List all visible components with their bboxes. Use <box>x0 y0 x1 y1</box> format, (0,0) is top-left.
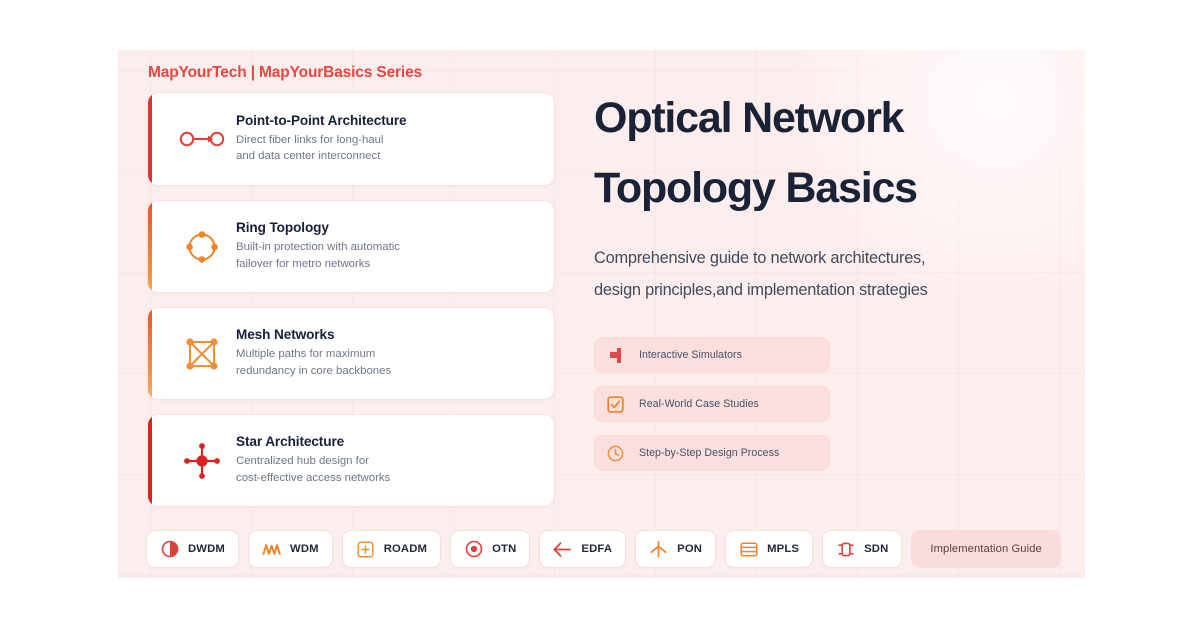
tag-label: ROADM <box>384 543 427 555</box>
point-to-point-icon <box>178 115 226 163</box>
ring-topology-icon <box>178 223 226 271</box>
otn-target-dot-icon <box>464 540 483 559</box>
tag-label: EDFA <box>581 543 612 555</box>
poster-canvas: MapYourTech | MapYourBasics Series <box>0 0 1200 628</box>
clock-icon <box>606 444 625 463</box>
card-description: Centralized hub design for cost-effectiv… <box>236 453 540 486</box>
tag-mpls[interactable]: MPLS <box>725 530 813 568</box>
mpls-stack-icon <box>739 540 758 559</box>
card-description: Direct fiber links for long-haul and dat… <box>236 132 540 165</box>
content-panel: MapYourTech | MapYourBasics Series <box>118 50 1085 578</box>
tag-label: WDM <box>290 543 319 555</box>
tag-pon[interactable]: PON <box>635 530 716 568</box>
card-text: Star Architecture Centralized hub design… <box>236 434 540 486</box>
card-accent-bar <box>148 93 152 185</box>
hero-column: Optical Network Topology Basics Comprehe… <box>594 84 1064 484</box>
wdm-wave-icon <box>262 540 281 559</box>
page-subtitle: Comprehensive guide to network architect… <box>594 243 1064 307</box>
tag-label: MPLS <box>767 543 799 555</box>
card-title: Ring Topology <box>236 220 540 237</box>
feature-list: Interactive Simulators Real-World Case S… <box>594 337 830 471</box>
tag-roadm[interactable]: ROADM <box>342 530 441 568</box>
topology-card-mesh[interactable]: Mesh Networks Multiple paths for maximum… <box>147 307 555 400</box>
roadm-square-plus-icon <box>356 540 375 559</box>
feature-label: Step-by-Step Design Process <box>639 447 779 459</box>
card-description: Built-in protection with automatic failo… <box>236 239 540 272</box>
card-text: Mesh Networks Multiple paths for maximum… <box>236 327 540 379</box>
tag-edfa[interactable]: EDFA <box>539 530 626 568</box>
implementation-guide-button[interactable]: Implementation Guide <box>911 530 1060 568</box>
checkbox-checked-icon <box>606 395 625 414</box>
topology-card-point-to-point[interactable]: Point-to-Point Architecture Direct fiber… <box>147 92 555 186</box>
feature-interactive-simulators[interactable]: Interactive Simulators <box>594 337 830 373</box>
card-title: Mesh Networks <box>236 327 540 344</box>
brand-series-label: MapYourTech | MapYourBasics Series <box>148 64 422 82</box>
dwdm-half-circle-icon <box>160 540 179 559</box>
tag-label: DWDM <box>188 543 225 555</box>
cta-label: Implementation Guide <box>930 543 1041 555</box>
flag-icon <box>606 346 625 365</box>
feature-label: Interactive Simulators <box>639 349 742 361</box>
topology-card-list: Point-to-Point Architecture Direct fiber… <box>147 92 555 521</box>
feature-step-by-step-design-process[interactable]: Step-by-Step Design Process <box>594 435 830 471</box>
card-text: Point-to-Point Architecture Direct fiber… <box>236 113 540 165</box>
tag-label: OTN <box>492 543 516 555</box>
star-topology-icon <box>178 437 226 485</box>
topology-card-ring[interactable]: Ring Topology Built-in protection with a… <box>147 200 555 293</box>
card-accent-bar <box>148 201 152 292</box>
pon-splitter-icon <box>649 540 668 559</box>
card-description: Multiple paths for maximum redundancy in… <box>236 346 540 379</box>
tag-label: SDN <box>864 543 888 555</box>
card-accent-bar <box>148 308 152 399</box>
tag-dwdm[interactable]: DWDM <box>146 530 239 568</box>
tag-otn[interactable]: OTN <box>450 530 530 568</box>
tag-sdn[interactable]: SDN <box>822 530 902 568</box>
feature-label: Real-World Case Studies <box>639 398 759 410</box>
mesh-network-icon <box>178 330 226 378</box>
card-text: Ring Topology Built-in protection with a… <box>236 220 540 272</box>
topology-card-star[interactable]: Star Architecture Centralized hub design… <box>147 414 555 507</box>
edfa-arrow-left-icon <box>553 540 572 559</box>
card-title: Star Architecture <box>236 434 540 451</box>
card-accent-bar <box>148 415 152 506</box>
sdn-controller-icon <box>836 540 855 559</box>
feature-real-world-case-studies[interactable]: Real-World Case Studies <box>594 386 830 422</box>
technology-tag-strip: DWDM WDM <box>146 530 1061 568</box>
tag-label: PON <box>677 543 702 555</box>
tag-wdm[interactable]: WDM <box>248 530 333 568</box>
card-title: Point-to-Point Architecture <box>236 113 540 130</box>
page-title: Optical Network Topology Basics <box>594 84 1064 223</box>
